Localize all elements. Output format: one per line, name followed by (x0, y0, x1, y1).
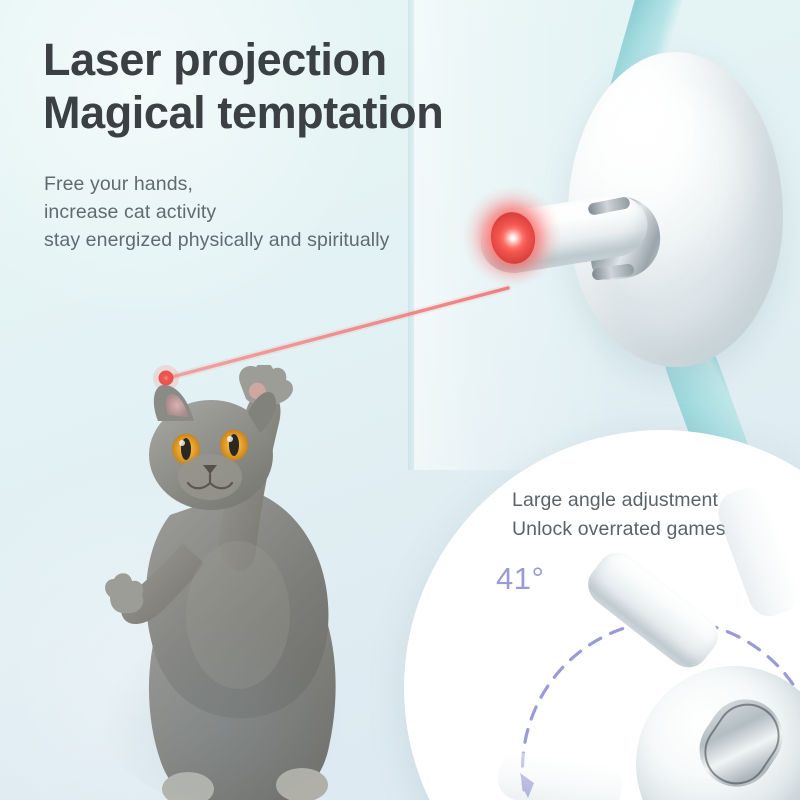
device-body-highlight (596, 76, 706, 196)
laser-lens-starburst (502, 227, 525, 250)
angle-adjustment-inset: Large angle adjustment Unlock overrated … (404, 430, 800, 800)
cat-lowered-paw (105, 573, 143, 613)
laser-projector-device (470, 0, 800, 480)
cat-shadow (98, 615, 348, 800)
page-subtitle: Free your hands, increase cat activity s… (44, 170, 390, 254)
product-banner: Laser projection Magical temptation Free… (0, 0, 800, 800)
angle-value-label: 41° (496, 561, 544, 597)
grey-cat (70, 365, 370, 800)
page-title: Laser projection Magical temptation (43, 33, 443, 139)
inset-tube-down-aperture (404, 452, 428, 476)
